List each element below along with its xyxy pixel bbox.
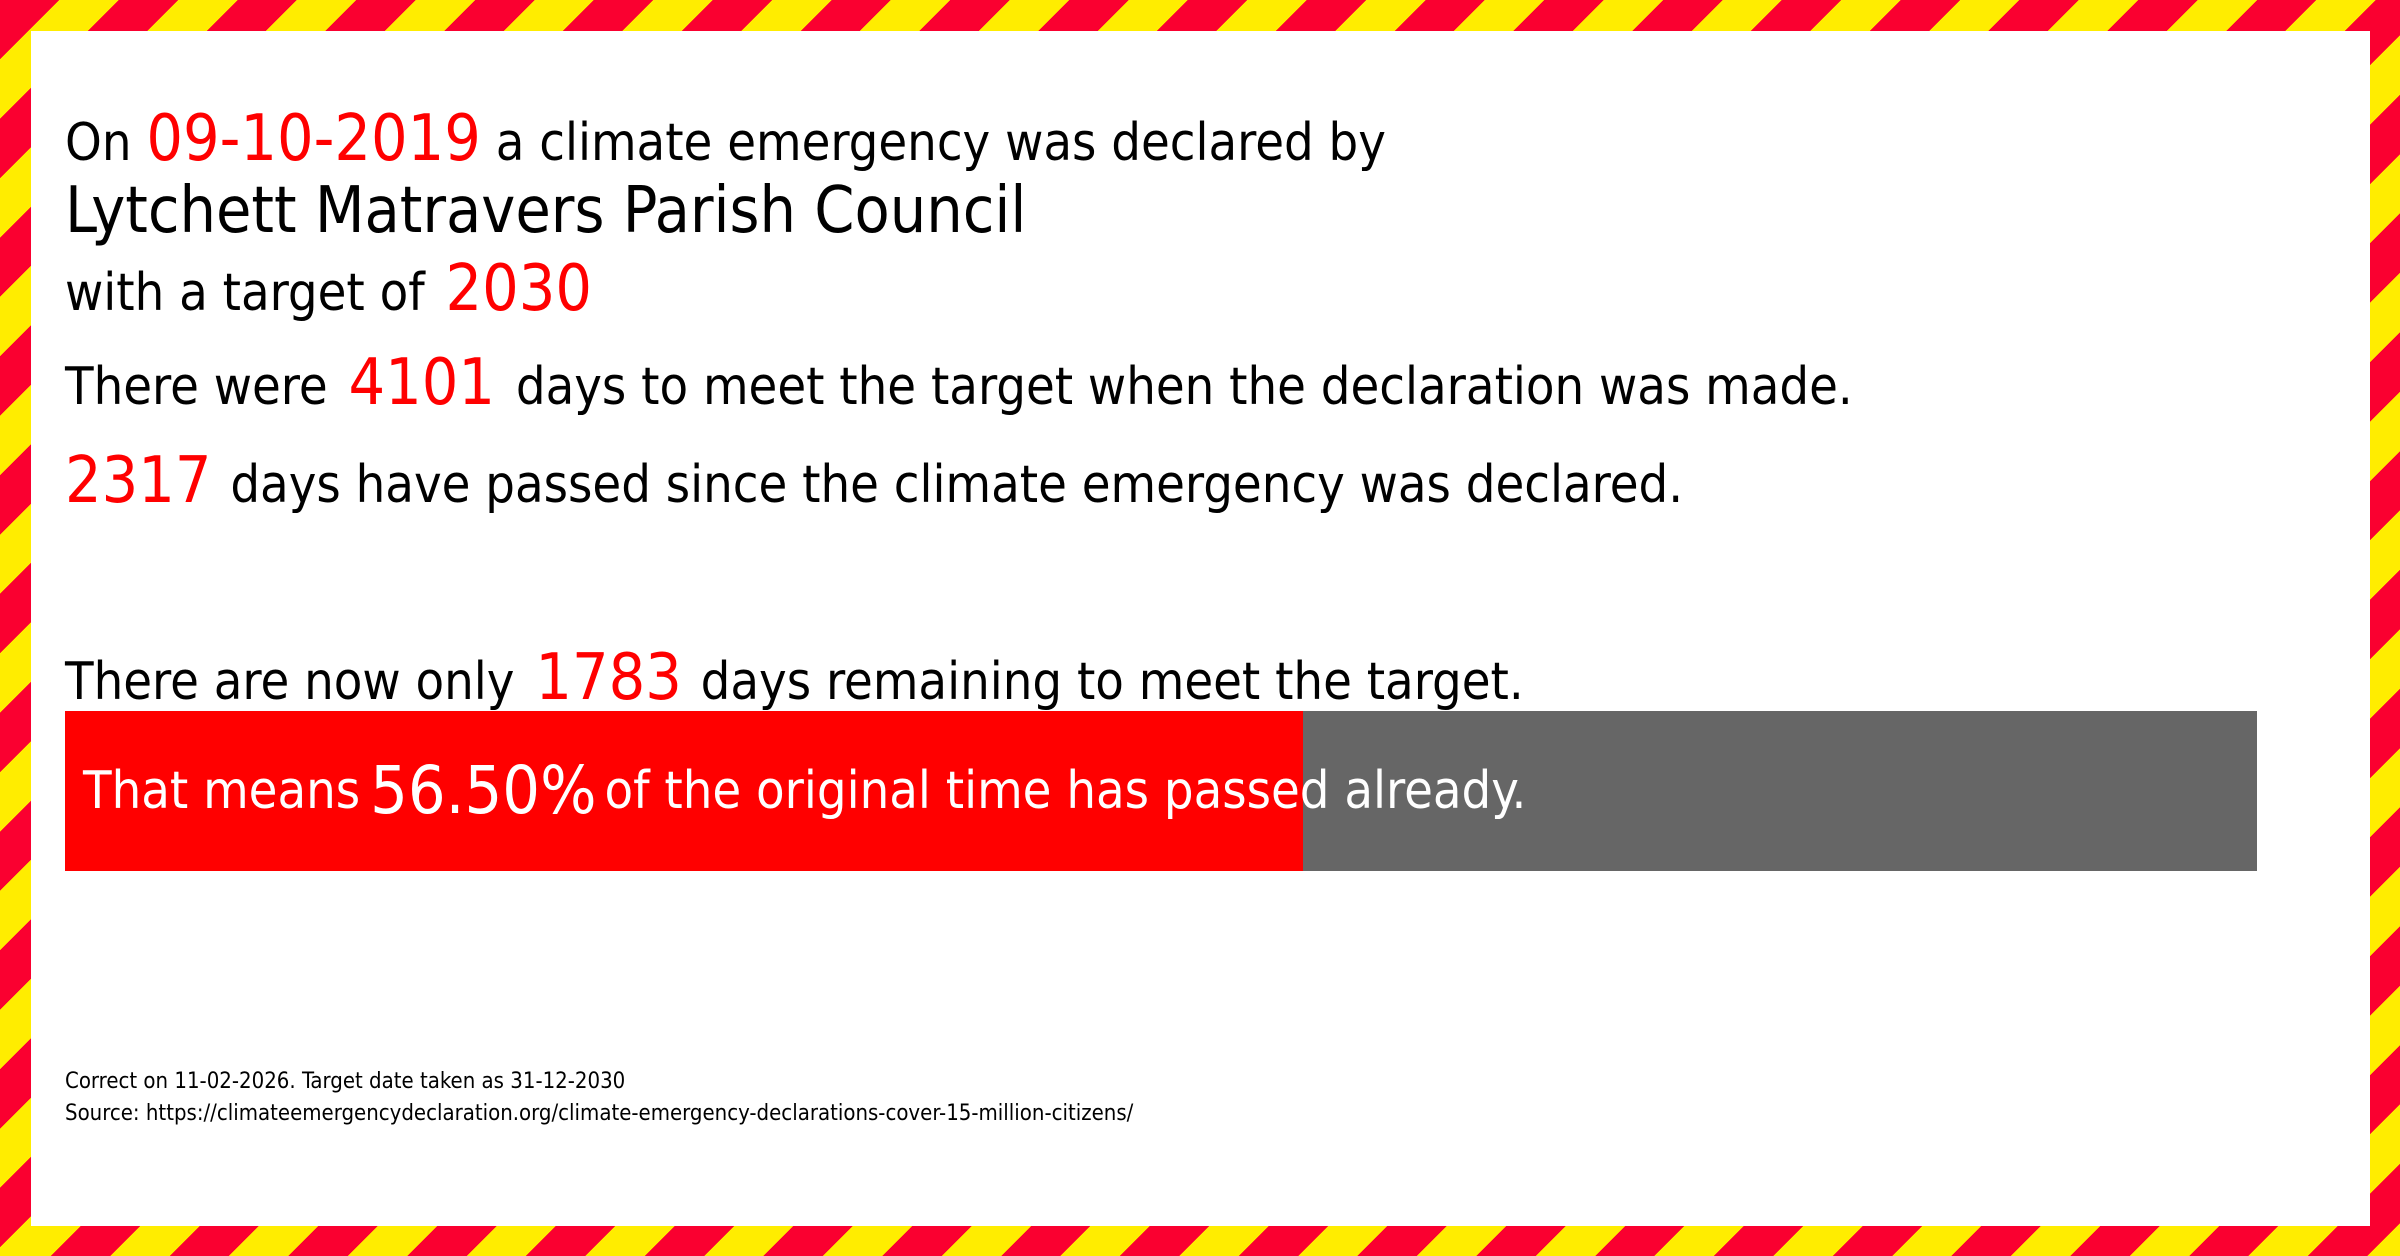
progress-suffix: of the original time has passed already. — [605, 765, 1527, 817]
footer-source: Source: https://climateemergencydeclarat… — [65, 1098, 1133, 1130]
days-to-meet-value: 4101 — [343, 346, 502, 420]
target-prefix: with a target of — [65, 263, 440, 323]
days-passed-line: 2317 days have passed since the climate … — [65, 449, 1683, 513]
days-to-meet-prefix: There were — [65, 357, 343, 417]
days-to-meet-line: There were 4101 days to meet the target … — [65, 351, 1853, 415]
poster-hazard-frame: On 09-10-2019 a climate emergency was de… — [0, 0, 2400, 1256]
footer-notes: Correct on 11-02-2026. Target date taken… — [65, 1066, 1133, 1130]
days-remaining-value: 1783 — [529, 641, 686, 715]
days-remaining-prefix: There are now only — [65, 652, 529, 712]
declaration-date: 09-10-2019 — [146, 102, 481, 176]
footer-correct-on: Correct on 11-02-2026. Target date taken… — [65, 1066, 1133, 1098]
time-elapsed-progress-bar: That means 56.50% of the original time h… — [65, 711, 2257, 871]
progress-prefix: That means — [83, 765, 360, 817]
declaration-prefix: On — [65, 113, 146, 173]
target-year: 2030 — [440, 252, 593, 326]
days-remaining-suffix: days remaining to meet the target. — [686, 652, 1524, 712]
days-passed-value: 2317 — [65, 444, 216, 518]
declaration-line: On 09-10-2019 a climate emergency was de… — [65, 107, 1386, 171]
target-line: with a target of 2030 — [65, 257, 592, 321]
progress-bar-label: That means 56.50% of the original time h… — [83, 711, 1526, 871]
poster-content: On 09-10-2019 a climate emergency was de… — [31, 31, 2370, 1226]
council-name: Lytchett Matravers Parish Council — [65, 179, 1026, 243]
progress-percent: 56.50% — [360, 758, 604, 824]
days-passed-suffix: days have passed since the climate emerg… — [216, 455, 1684, 515]
days-to-meet-suffix: days to meet the target when the declara… — [501, 357, 1853, 417]
days-remaining-line: There are now only 1783 days remaining t… — [65, 646, 1524, 710]
declaration-suffix: a climate emergency was declared by — [481, 113, 1386, 173]
